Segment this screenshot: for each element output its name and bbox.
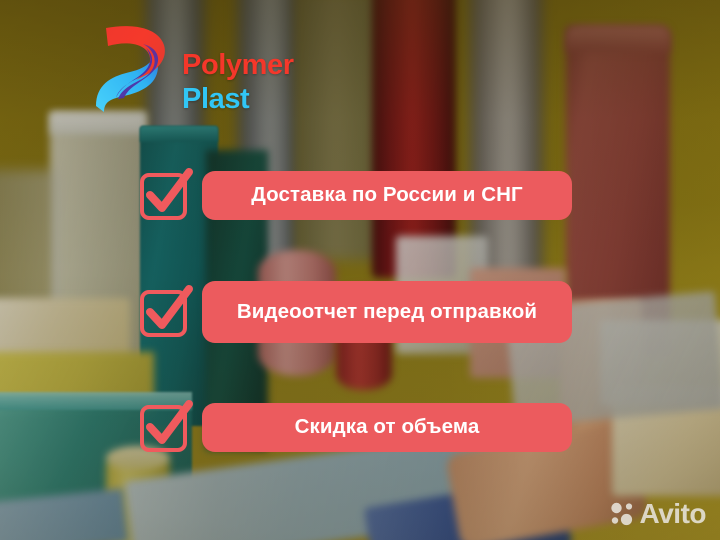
feature-badge-volume-discount: Скидка от объема [202,403,572,452]
brand-logo: Polymer Plast [88,14,294,118]
checkbox-checked-icon [139,400,189,454]
checkbox-checked-icon [139,168,189,222]
brand-name-line2: Plast [182,85,294,114]
plastic-sheet-teal-top [140,126,218,142]
avito-dots-icon [609,501,635,527]
avito-wordmark: Avito [640,500,706,528]
feature-item-video-report: Видеоотчет перед отправкой [139,281,572,343]
feature-label-video-report: Видеоотчет перед отправкой [237,299,537,325]
brand-wordmark: Polymer Plast [182,19,294,114]
avito-watermark: Avito [609,500,706,528]
feature-label-delivery: Доставка по России и СНГ [251,182,523,208]
feature-item-delivery: Доставка по России и СНГ [139,168,572,222]
advertisement-banner: Polymer Plast Доставка по России и СНГ [0,0,720,540]
feature-badge-delivery: Доставка по России и СНГ [202,171,572,220]
feature-badge-video-report: Видеоотчет перед отправкой [202,281,572,343]
checkbox-checked-icon [139,285,189,339]
plastic-sheet-maroon-right-top [566,26,670,52]
feature-item-volume-discount: Скидка от объема [139,400,572,454]
brand-name-line1: Polymer [182,51,294,80]
feature-label-volume-discount: Скидка от объема [295,414,480,440]
polymer-wave-logo-icon [88,14,174,118]
